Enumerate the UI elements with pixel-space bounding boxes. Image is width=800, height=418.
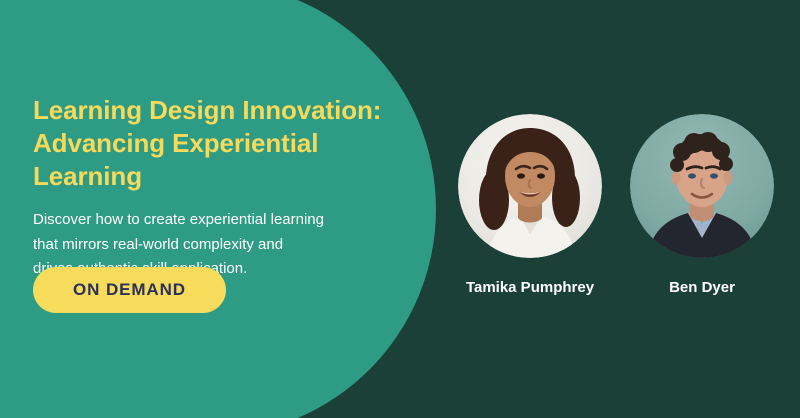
page-title: Learning Design Innovation: Advancing Ex… — [33, 94, 413, 192]
speaker-name: Ben Dyer — [669, 279, 735, 296]
avatar — [630, 114, 774, 258]
speaker-card-tamika-pumphrey: Tamika Pumphrey — [458, 114, 602, 296]
speaker-list: Tamika Pumphrey — [458, 114, 774, 296]
avatar — [458, 114, 602, 258]
headline-copy-block: Learning Design Innovation: Advancing Ex… — [33, 94, 413, 281]
webinar-promo-banner: Learning Design Innovation: Advancing Ex… — [0, 0, 800, 418]
on-demand-button[interactable]: ON DEMAND — [33, 267, 226, 313]
speaker-card-ben-dyer: Ben Dyer — [630, 114, 774, 296]
speaker-name: Tamika Pumphrey — [466, 279, 594, 296]
